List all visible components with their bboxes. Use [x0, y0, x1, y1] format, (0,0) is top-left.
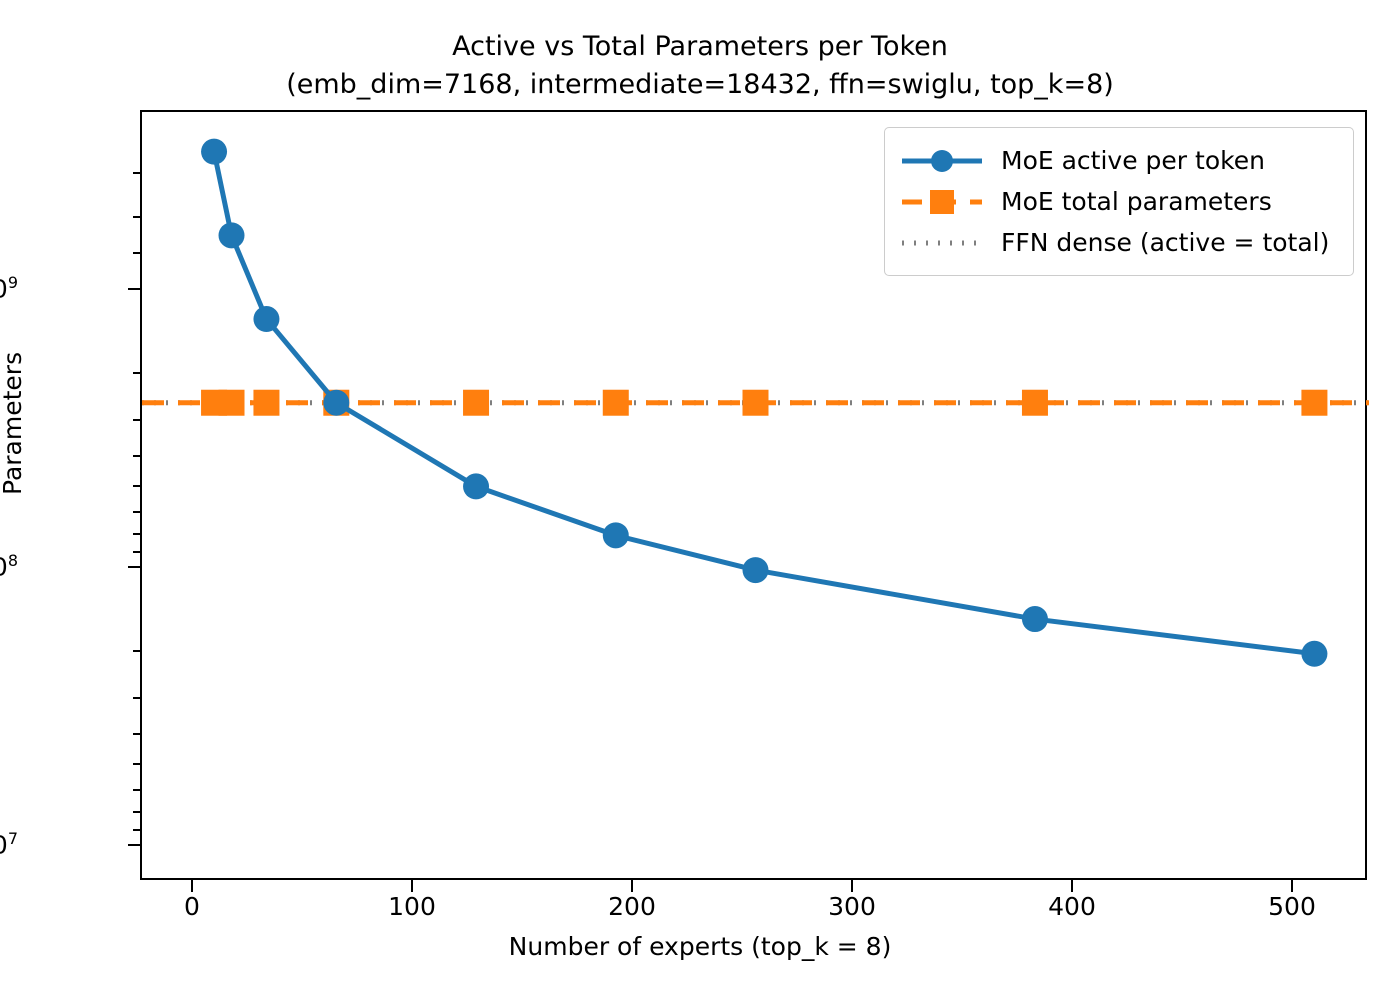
- legend-label-moe-active: MoE active per token: [1001, 146, 1265, 175]
- data-point-moe-active: [253, 306, 279, 332]
- y-tick-minor: [133, 697, 140, 699]
- legend-entry-ffn-dense: FFN dense (active = total): [899, 222, 1337, 263]
- data-point-moe-active: [201, 139, 227, 165]
- data-point-moe-total: [1301, 390, 1327, 416]
- chart-title-line-1: Active vs Total Parameters per Token: [452, 31, 948, 62]
- legend-entry-moe-total: MoE total parameters: [899, 181, 1337, 222]
- chart-title-line-2: (emb_dim=7168, intermediate=18432, ffn=s…: [286, 69, 1114, 100]
- data-point-moe-active: [219, 222, 245, 248]
- data-point-moe-total: [463, 390, 489, 416]
- y-tick-minor: [133, 829, 140, 831]
- y-tick-major-1e9: [128, 288, 140, 290]
- data-point-moe-total: [1022, 390, 1048, 416]
- data-point-moe-total: [219, 390, 245, 416]
- y-tick-minor: [133, 419, 140, 421]
- y-tick-minor: [133, 485, 140, 487]
- x-tick-label-400: 400: [1048, 892, 1096, 921]
- data-point-moe-total: [253, 390, 279, 416]
- data-point-moe-active: [743, 557, 769, 583]
- x-tick-label-200: 200: [608, 892, 656, 921]
- data-point-moe-active: [463, 473, 489, 499]
- y-tick-major-1e8: [128, 566, 140, 568]
- legend-label-moe-total: MoE total parameters: [1001, 187, 1272, 216]
- legend-label-ffn-dense: FFN dense (active = total): [1001, 228, 1329, 257]
- y-tick-minor: [133, 455, 140, 457]
- figure: Active vs Total Parameters per Token (em…: [0, 0, 1400, 1000]
- y-tick-minor: [133, 216, 140, 218]
- data-point-moe-total: [603, 390, 629, 416]
- legend-swatch-moe-total: [899, 185, 985, 219]
- legend-swatch-ffn-dense: [899, 226, 985, 260]
- y-tick-minor: [133, 252, 140, 254]
- x-axis-label: Number of experts (top_k = 8): [0, 932, 1400, 961]
- y-tick-minor: [133, 789, 140, 791]
- y-tick-label-1e7: 107: [0, 831, 18, 860]
- legend-entry-moe-active: MoE active per token: [899, 140, 1337, 181]
- y-tick-minor: [133, 811, 140, 813]
- y-axis-label: Parameters: [0, 352, 27, 495]
- legend-marker-circle-icon: [899, 144, 985, 178]
- data-point-moe-active: [1022, 606, 1048, 632]
- chart-title: Active vs Total Parameters per Token (em…: [0, 28, 1400, 104]
- x-tick-label-300: 300: [828, 892, 876, 921]
- y-tick-minor: [133, 763, 140, 765]
- x-tick-label-0: 0: [184, 892, 200, 921]
- y-tick-minor: [133, 372, 140, 374]
- legend-dotted-line-icon: [899, 226, 985, 260]
- y-tick-minor: [133, 551, 140, 553]
- data-point-moe-active: [603, 522, 629, 548]
- x-tick-label-500: 500: [1268, 892, 1316, 921]
- legend-marker-square-icon: [899, 185, 985, 219]
- y-tick-minor: [133, 733, 140, 735]
- x-tick-label-100: 100: [388, 892, 436, 921]
- data-point-moe-active: [323, 390, 349, 416]
- y-tick-label-1e8: 108: [0, 553, 18, 582]
- data-point-moe-active: [1301, 641, 1327, 667]
- y-tick-minor: [133, 650, 140, 652]
- y-tick-label-1e9: 109: [0, 275, 18, 304]
- data-point-moe-total: [743, 390, 769, 416]
- y-tick-minor: [133, 533, 140, 535]
- legend-swatch-moe-active: [899, 144, 985, 178]
- y-tick-major-1e7: [128, 844, 140, 846]
- y-tick-minor: [133, 172, 140, 174]
- chart-legend: MoE active per token MoE total parameter…: [884, 127, 1354, 276]
- y-tick-minor: [133, 511, 140, 513]
